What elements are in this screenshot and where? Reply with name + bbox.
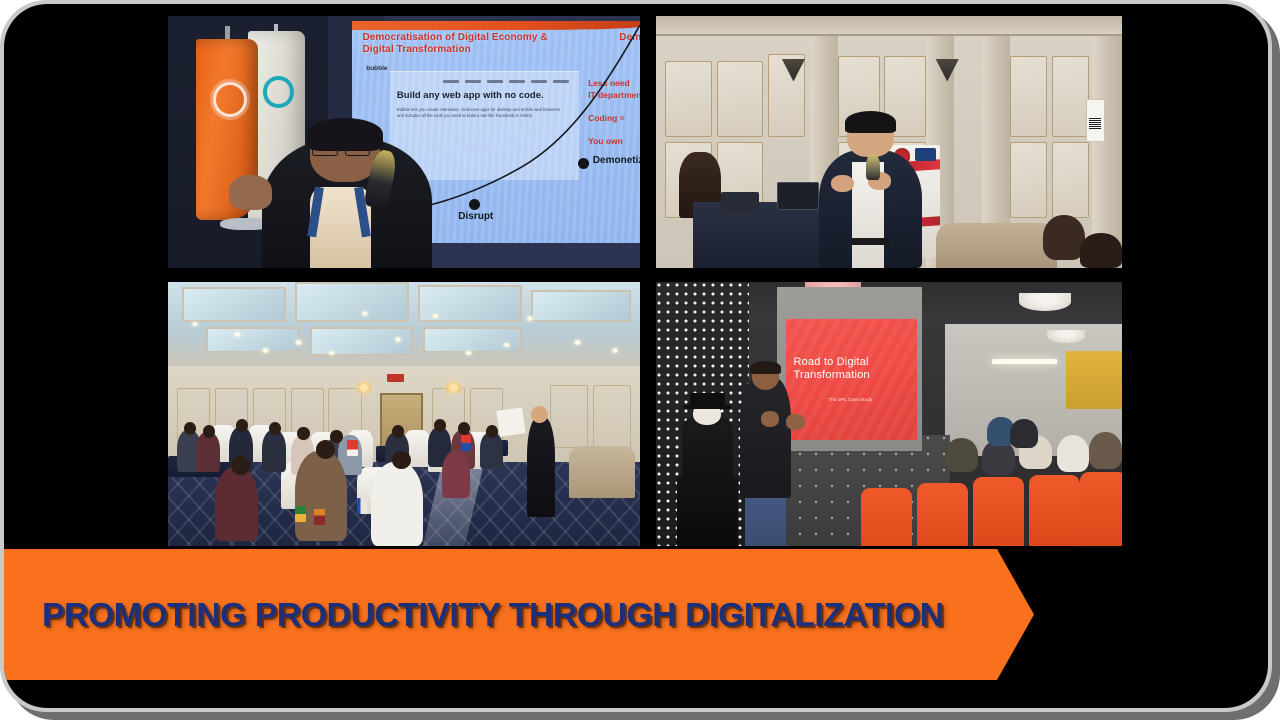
- delegate-head: [297, 427, 309, 440]
- table-flag: [357, 498, 367, 514]
- delegate-head: [316, 440, 335, 458]
- ceiling-coffer: [182, 287, 286, 321]
- ceiling-cornice: [656, 16, 1122, 36]
- ceiling-downlight-icon: [262, 348, 269, 353]
- audience-head: [1043, 215, 1085, 260]
- delegate-head: [486, 425, 498, 438]
- rollup-banner-logo-icon: [915, 148, 936, 161]
- photo-speaker-red-slide-auditorium[interactable]: Road to Digital Transformation The DPL C…: [656, 282, 1122, 546]
- ceiling-downlight-icon: [295, 340, 302, 345]
- delegate: [442, 451, 470, 499]
- delegate: [196, 432, 220, 472]
- table-flag: [461, 435, 471, 451]
- card-border-ring: Democratisation of Digital Economy & Dig…: [0, 0, 1272, 712]
- held-paper: [497, 407, 527, 437]
- ceiling-coffer: [295, 282, 408, 322]
- title-banner: PROMOTING PRODUCTIVITY THROUGH DIGITALIZ…: [4, 549, 1034, 680]
- table-flag: [347, 440, 357, 456]
- wall-panel: [665, 61, 712, 137]
- photo-conference-hall-delegates[interactable]: [168, 282, 640, 546]
- slide-subtitle: The DPL Case Study: [828, 397, 912, 402]
- ceiling-downlight-icon: [234, 332, 241, 337]
- slide-title: Road to Digital Transformation: [793, 356, 910, 382]
- lounge-sofa: [569, 446, 635, 499]
- ceiling-coffer: [423, 327, 522, 353]
- exit-sign: [387, 374, 404, 382]
- strip-light: [992, 359, 1057, 364]
- qr-code-icon: [1089, 117, 1100, 130]
- mannequin-body: [682, 417, 733, 483]
- speaker-polo-shirt: [740, 377, 791, 498]
- audience-head: [1080, 233, 1122, 268]
- table-flag: [295, 506, 305, 522]
- speaker-raised-hand: [229, 175, 271, 210]
- photo-scene: Democratisation of Digital Economy & Dig…: [168, 16, 640, 268]
- delegate: [262, 430, 286, 472]
- speaker-hand-right: [786, 414, 805, 430]
- audience-person: [945, 438, 978, 472]
- card-body: Democratisation of Digital Economy & Dig…: [4, 4, 1268, 708]
- wall-panel: [593, 385, 631, 448]
- audience-person: [1010, 419, 1038, 448]
- pendant-light-white: [1047, 330, 1084, 343]
- wall-panel: [717, 61, 764, 137]
- audience-person: [1057, 435, 1090, 472]
- photo-woman-presenting-with-slide[interactable]: Democratisation of Digital Economy & Dig…: [168, 16, 640, 268]
- delegate-foreground: [215, 467, 257, 541]
- laptop: [777, 182, 819, 210]
- wall-panel: [1052, 142, 1089, 218]
- wall-panel: [1052, 56, 1089, 137]
- audience-person: [1089, 432, 1122, 469]
- ceiling-coffer: [206, 327, 300, 353]
- delegate-head: [330, 430, 342, 443]
- photo-male-speaker-ballroom[interactable]: [656, 16, 1122, 268]
- auditorium-chair: [1029, 475, 1080, 546]
- banner-title: PROMOTING PRODUCTIVITY THROUGH DIGITALIZ…: [42, 596, 944, 634]
- wall-lamp-icon: [446, 382, 460, 393]
- photo-scene: Road to Digital Transformation The DPL C…: [656, 282, 1122, 546]
- curve-node-disrupt: [469, 199, 480, 210]
- delegate-head: [392, 451, 411, 469]
- delegate-foreground: [295, 451, 347, 541]
- wall-panel: [1010, 142, 1047, 218]
- curve-label-demonetize: Demonetize: [593, 155, 640, 166]
- photo-scene: [656, 16, 1122, 268]
- speaker-glasses-lens-left: [312, 143, 337, 156]
- pendant-light-white: [1019, 293, 1070, 311]
- ceiling-downlight-icon: [362, 311, 369, 316]
- wall-lamp-icon: [357, 382, 371, 393]
- curve-label-disrupt: Disrupt: [458, 211, 493, 222]
- speaker-hand-left: [831, 175, 854, 193]
- auditorium-chair: [973, 477, 1024, 546]
- delegate-head: [203, 425, 215, 438]
- slide-root: Democratisation of Digital Economy & Dig…: [0, 0, 1280, 720]
- flag-orange-emblem-icon: [213, 82, 247, 117]
- delegate-head: [231, 456, 250, 474]
- table-flag: [314, 509, 324, 525]
- delegate-head: [458, 422, 470, 435]
- ceiling-downlight-icon: [574, 340, 581, 345]
- speaker-hair: [845, 111, 896, 134]
- mannequin-hat-brim: [683, 405, 731, 409]
- display-plinth: [677, 477, 738, 546]
- monitor: [721, 192, 758, 212]
- microphone: [866, 155, 880, 180]
- flag-white-emblem-icon: [263, 76, 293, 107]
- delegate: [480, 432, 504, 469]
- speaker-glasses-lens-right: [345, 143, 370, 156]
- yellow-wall-panel: [1066, 351, 1122, 409]
- delegate-foreground: [371, 462, 423, 546]
- auditorium-chair: [861, 488, 912, 546]
- auditorium-chair: [1080, 472, 1122, 546]
- wall-panel: [550, 385, 588, 448]
- auditorium-chair: [917, 483, 968, 546]
- wall-panel: [1010, 56, 1047, 137]
- standing-speaker: [527, 417, 555, 517]
- lounge-sofa: [936, 223, 1057, 268]
- ceiling-downlight-icon: [612, 348, 619, 353]
- ceiling-coffer: [531, 290, 630, 322]
- photo-scene: [168, 282, 640, 546]
- speaker-belt: [852, 238, 889, 246]
- delegate-head: [392, 425, 404, 438]
- speaker-hair: [750, 361, 781, 374]
